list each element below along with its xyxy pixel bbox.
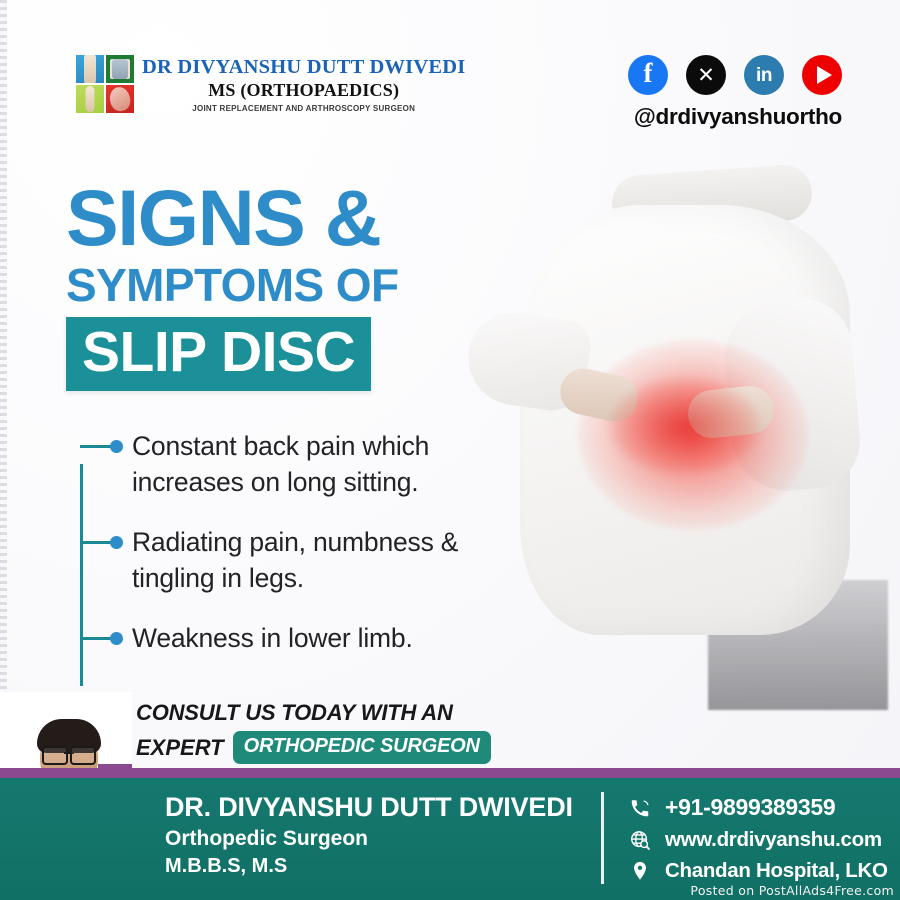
linkedin-glyph: in bbox=[756, 66, 772, 85]
logo-tile-anatomy bbox=[106, 85, 134, 113]
x-twitter-icon[interactable]: ✕ bbox=[686, 55, 726, 95]
clinic-logo: DR DIVYANSHU DUTT DWIVEDI MS (ORTHOPAEDI… bbox=[76, 55, 465, 113]
headline-block: SIGNS & SYMPTOMS OF SLIP DISC bbox=[66, 182, 398, 391]
linkedin-icon[interactable]: in bbox=[744, 55, 784, 95]
footer-bar: DR. DIVYANSHU DUTT DWIVEDI Orthopedic Su… bbox=[0, 778, 900, 900]
website-url: www.drdivyanshu.com bbox=[665, 828, 882, 852]
symptom-text: Constant back pain which increases on lo… bbox=[132, 428, 520, 500]
list-branch-line bbox=[80, 445, 114, 448]
logo-tile-knee-xray bbox=[76, 55, 104, 83]
facebook-glyph: f bbox=[644, 60, 653, 87]
footer-contact-block: +91-9899389359 www.drdivyanshu.com bbox=[628, 794, 888, 883]
logo-doctor-name: DR DIVYANSHU DUTT DWIVEDI bbox=[142, 56, 465, 79]
pain-glow-inner bbox=[610, 378, 760, 474]
footer-degree: M.B.B.S, M.S bbox=[165, 855, 573, 878]
bullet-dot-icon bbox=[110, 632, 123, 645]
contact-website-row[interactable]: www.drdivyanshu.com bbox=[628, 828, 888, 852]
play-triangle-icon bbox=[817, 66, 832, 84]
phone-number: +91-9899389359 bbox=[665, 794, 835, 821]
footer-divider bbox=[601, 792, 604, 884]
logo-tile-implant bbox=[106, 55, 134, 83]
site-watermark: Posted on PostAllAds4Free.com bbox=[690, 883, 894, 898]
consult-line-1: CONSULT US TODAY WITH AN bbox=[136, 700, 556, 726]
footer-name-block: DR. DIVYANSHU DUTT DWIVEDI Orthopedic Su… bbox=[165, 792, 573, 878]
bullet-dot-icon bbox=[110, 536, 123, 549]
footer-role: Orthopedic Surgeon bbox=[165, 827, 573, 851]
eyeglasses-icon bbox=[42, 746, 96, 761]
header: DR DIVYANSHU DUTT DWIVEDI MS (ORTHOPAEDI… bbox=[0, 0, 900, 150]
social-handle: @drdivyanshuortho bbox=[628, 104, 842, 130]
footer-doctor-name: DR. DIVYANSHU DUTT DWIVEDI bbox=[165, 792, 573, 823]
logo-tile-leg-bone bbox=[76, 85, 104, 113]
consult-line-2: EXPERT ORTHOPEDIC SURGEON bbox=[136, 731, 556, 764]
phone-icon bbox=[628, 796, 652, 820]
list-branch-line bbox=[80, 637, 114, 640]
poster: DR DIVYANSHU DUTT DWIVEDI MS (ORTHOPAEDI… bbox=[0, 0, 900, 900]
list-item: Radiating pain, numbness & tingling in l… bbox=[80, 524, 520, 596]
orthopedic-surgeon-pill: ORTHOPEDIC SURGEON bbox=[233, 731, 491, 764]
contact-location-row[interactable]: Chandan Hospital, LKO bbox=[628, 859, 888, 883]
symptom-list: Constant back pain which increases on lo… bbox=[80, 428, 520, 656]
hospital-location: Chandan Hospital, LKO bbox=[665, 859, 888, 883]
logo-specialty: JOINT REPLACEMENT AND ARTHROSCOPY SURGEO… bbox=[142, 104, 465, 113]
purple-divider-bar bbox=[0, 768, 900, 778]
logo-qualification: MS (ORTHOPAEDICS) bbox=[142, 80, 465, 101]
logo-text-block: DR DIVYANSHU DUTT DWIVEDI MS (ORTHOPAEDI… bbox=[142, 56, 465, 113]
youtube-icon[interactable] bbox=[802, 55, 842, 95]
headline-banner-text: SLIP DISC bbox=[82, 320, 355, 384]
consult-expert-word: EXPERT bbox=[136, 735, 224, 761]
list-branch-line bbox=[80, 541, 114, 544]
social-block: f ✕ in @drdivyanshuortho bbox=[628, 55, 842, 130]
contact-phone-row[interactable]: +91-9899389359 bbox=[628, 794, 888, 821]
back-pain-photo bbox=[460, 150, 900, 710]
bullet-dot-icon bbox=[110, 440, 123, 453]
logo-image-grid bbox=[76, 55, 134, 113]
symptom-text: Weakness in lower limb. bbox=[132, 620, 520, 656]
headline-line-2: SYMPTOMS OF bbox=[66, 261, 398, 310]
social-icon-row: f ✕ in bbox=[628, 55, 842, 95]
facebook-icon[interactable]: f bbox=[628, 55, 668, 95]
globe-search-icon bbox=[628, 828, 652, 852]
symptom-text: Radiating pain, numbness & tingling in l… bbox=[132, 524, 520, 596]
list-item: Constant back pain which increases on lo… bbox=[80, 428, 520, 500]
list-item: Weakness in lower limb. bbox=[80, 620, 520, 656]
consult-cta: CONSULT US TODAY WITH AN EXPERT ORTHOPED… bbox=[136, 700, 556, 764]
headline-banner: SLIP DISC bbox=[66, 317, 371, 391]
location-pin-icon bbox=[628, 859, 652, 883]
x-glyph: ✕ bbox=[697, 65, 715, 86]
headline-line-1: SIGNS & bbox=[66, 182, 398, 255]
